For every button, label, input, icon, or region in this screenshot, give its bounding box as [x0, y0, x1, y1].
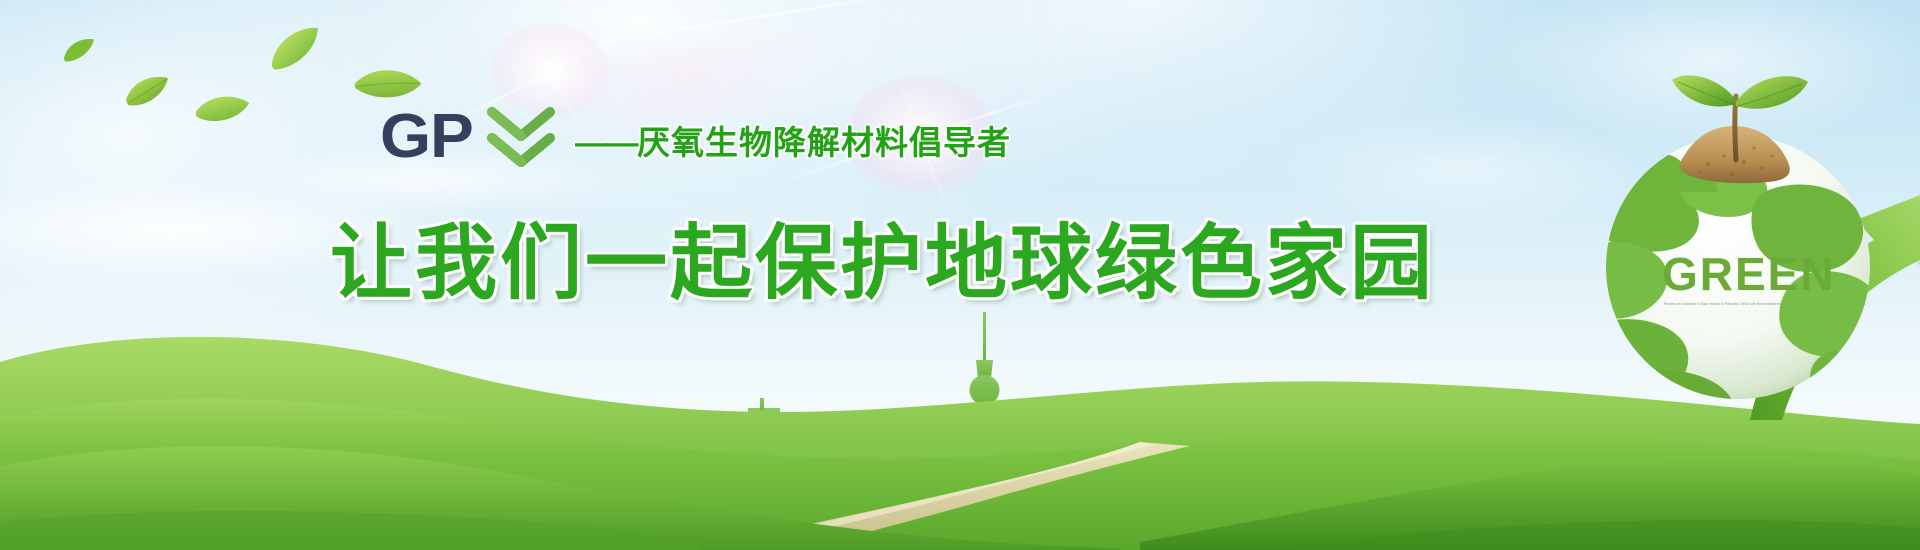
brand-tagline: ——厌氧生物降解材料倡导者 — [575, 116, 1011, 164]
green-earth-globe: GREEN Planted its business in Saar Venlo… — [1568, 52, 1920, 422]
leaf-icon-1 — [124, 74, 170, 108]
gpx-double-chevron-icon — [484, 104, 558, 170]
green-environment-banner: GP ——厌氧生物降解材料倡导者 让我们一起保护地球绿色家园 — [0, 0, 1920, 550]
tagline-text: 厌氧生物降解材料倡导者 — [637, 124, 1011, 161]
page-title: 让我们一起保护地球绿色家园 — [330, 196, 1435, 315]
leaf-icon-5 — [61, 36, 97, 63]
tagline-dash: —— — [575, 124, 637, 161]
globe-caption: Planted its business in Saar Venlos in F… — [1664, 302, 1866, 306]
brand-logo[interactable]: GP — [380, 104, 558, 170]
globe-green-label: GREEN — [1662, 248, 1836, 300]
brand-wordmark: GP — [380, 106, 473, 168]
